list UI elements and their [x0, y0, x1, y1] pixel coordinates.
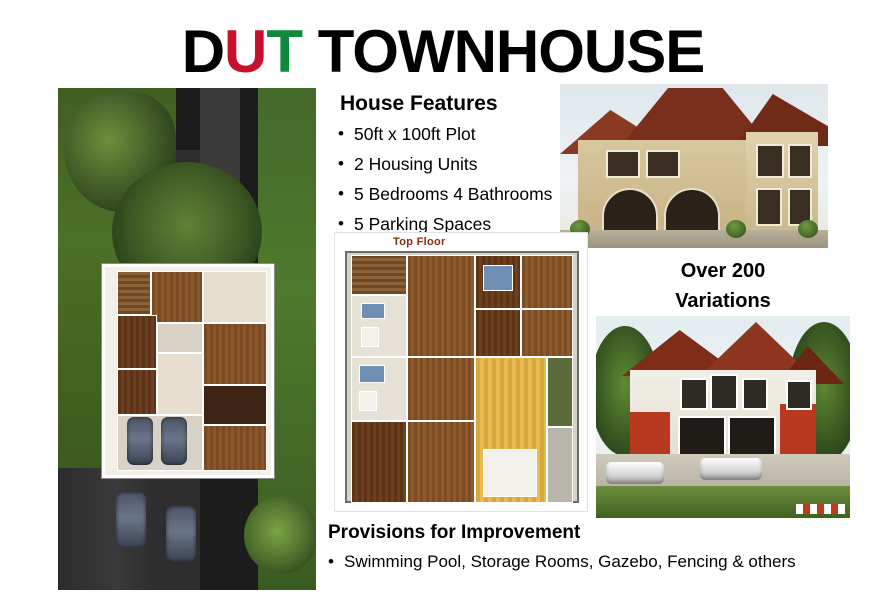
house-features-heading: House Features	[340, 92, 582, 116]
title-rest: TOWNHOUSE	[302, 18, 704, 85]
window	[786, 380, 812, 410]
house-features-section: House Features 50ft x 100ft Plot 2 Housi…	[332, 92, 582, 244]
feature-item: 50ft x 100ft Plot	[332, 124, 582, 145]
exterior-render-bottom	[596, 316, 850, 518]
exterior-render-top	[560, 84, 828, 248]
window	[756, 144, 784, 178]
provisions-section: Provisions for Improvement Swimming Pool…	[328, 522, 798, 574]
provisions-heading: Provisions for Improvement	[328, 522, 798, 544]
window	[680, 378, 708, 410]
car-left	[606, 462, 664, 484]
floor-plan-image: Top Floor	[334, 232, 588, 512]
page-title: DUT TOWNHOUSE	[0, 18, 886, 86]
window	[788, 144, 812, 178]
feature-item: 2 Housing Units	[332, 154, 582, 175]
provisions-text: Swimming Pool, Storage Rooms, Gazebo, Fe…	[328, 550, 798, 574]
window	[710, 374, 738, 410]
accent-band-right	[780, 404, 816, 456]
site-car-2	[166, 506, 196, 562]
site-house-footprint	[102, 264, 274, 478]
floor-plan-body	[345, 251, 579, 503]
house-features-list: 50ft x 100ft Plot 2 Housing Units 5 Bedr…	[332, 124, 582, 235]
window	[742, 378, 768, 410]
kerb-marking	[796, 504, 846, 514]
bush	[798, 220, 818, 238]
variations-callout: Over 200 Variations	[598, 256, 848, 316]
ground-driveway	[560, 230, 828, 248]
site-tree-bottom	[244, 496, 316, 574]
floor-plan-label: Top Floor	[393, 236, 446, 248]
window	[756, 188, 782, 226]
title-letter-t: T	[266, 18, 302, 85]
variations-line-1: Over 200	[598, 256, 848, 286]
car-right	[700, 458, 762, 480]
site-car-1	[116, 492, 146, 548]
feature-item: 5 Bedrooms 4 Bathrooms	[332, 184, 582, 205]
poster-page: DUT TOWNHOUSE House Fea	[0, 0, 886, 606]
site-plan-image	[58, 88, 316, 590]
bush	[726, 220, 746, 238]
window	[606, 150, 640, 178]
accent-band-left	[630, 412, 670, 456]
window	[646, 150, 680, 178]
title-letter-u: U	[224, 18, 266, 85]
title-letter-d: D	[182, 18, 224, 85]
variations-line-2: Variations	[598, 286, 848, 316]
